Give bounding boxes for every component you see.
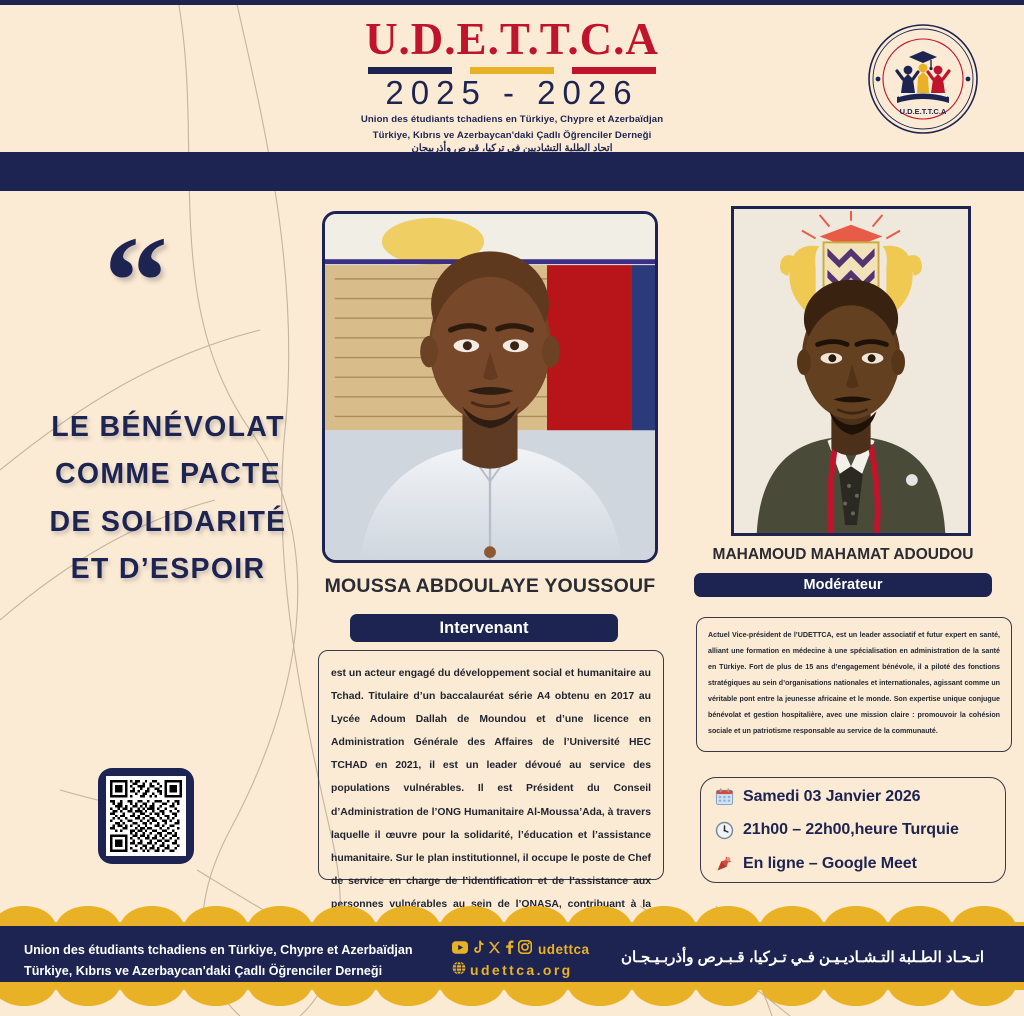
moderator-portrait: UNITÉ: [731, 206, 971, 536]
status-badge-moderateur: Modérateur: [694, 573, 992, 597]
headline-line-1: LE BÉNÉVOLAT: [18, 404, 318, 451]
footer-social-links: udettca udettca.org: [452, 940, 590, 981]
header-divider-band: [0, 152, 1024, 191]
qr-code-image: [106, 776, 186, 856]
x-icon[interactable]: [488, 940, 501, 960]
svg-text:U.D.E.T.T.C.A: U.D.E.T.T.C.A: [900, 107, 947, 116]
clock-icon: [715, 821, 734, 840]
footer: Union des étudiants tchadiens en Türkiye…: [0, 904, 1024, 1016]
scallop-bottom-decoration: [0, 982, 1024, 1008]
headline-line-4: ET D’ESPOIR: [18, 546, 318, 593]
poster-root: U.D.E.T.T.C.A 2025 - 2026 Union des étud…: [0, 0, 1024, 1016]
footer-line-tr: Türkiye, Kıbrıs ve Azerbaycan'daki Çadlı…: [24, 961, 413, 982]
headline-line-2: COMME PACTE: [18, 451, 318, 498]
footer-association-name: Union des étudiants tchadiens en Türkiye…: [24, 940, 413, 982]
event-time-row: 21h00 – 22h00,heure Turquie: [715, 821, 991, 840]
event-location-text: En ligne – Google Meet: [743, 855, 917, 873]
brand-bar-navy: [368, 67, 452, 74]
top-accent-strip: [0, 0, 1024, 5]
tiktok-icon[interactable]: [472, 940, 484, 960]
footer-line-fr: Union des étudiants tchadiens en Türkiye…: [24, 940, 413, 961]
quotation-mark-icon: “: [104, 243, 164, 320]
brand-bar-red: [572, 67, 656, 74]
registration-qr-code[interactable]: [98, 768, 194, 864]
event-location-row: En ligne – Google Meet: [715, 854, 991, 873]
globe-icon: [452, 960, 466, 981]
social-handle[interactable]: udettca: [538, 940, 590, 960]
header: U.D.E.T.T.C.A 2025 - 2026 Union des étud…: [0, 5, 1024, 150]
brand-subtitle-fr: Union des étudiants tchadiens en Türkiye…: [282, 113, 742, 127]
website-row[interactable]: udettca.org: [452, 960, 590, 981]
calendar-icon: [715, 787, 734, 806]
event-date-row: Samedi 03 Janvier 2026: [715, 787, 991, 806]
status-badge-intervenant: Intervenant: [350, 614, 618, 642]
speaker-portrait: [322, 211, 658, 563]
website-url[interactable]: udettca.org: [470, 960, 573, 981]
speaker-bio: est un acteur engagé du développement so…: [318, 650, 664, 880]
moderator-name: MAHAMOUD MAHAMAT ADOUDOU: [694, 546, 992, 564]
social-icon-row: udettca: [452, 940, 590, 960]
brand-color-bars: [282, 67, 742, 74]
event-time-text: 21h00 – 22h00,heure Turquie: [743, 821, 959, 839]
speaker-bio-text: est un acteur engagé du développement so…: [331, 662, 651, 939]
facebook-icon[interactable]: [505, 940, 514, 960]
brand-subtitle-tr: Türkiye, Kıbrıs ve Azerbaycan'daki Çadlı…: [282, 129, 742, 143]
event-details: Samedi 03 Janvier 2026 21h00 – 22h00,heu…: [700, 777, 1006, 883]
pin-icon: [715, 854, 734, 873]
instagram-icon[interactable]: [518, 940, 532, 960]
event-date-text: Samedi 03 Janvier 2026: [743, 788, 920, 806]
udettca-logo-icon: U.D.E.T.T.C.A: [867, 23, 979, 135]
page-title: LE BÉNÉVOLAT COMME PACTE DE SOLIDARITÉ E…: [18, 404, 318, 593]
headline-line-3: DE SOLIDARITÉ: [18, 499, 318, 546]
moderator-bio-text: Actuel Vice-président de l’UDETTCA, est …: [708, 628, 1000, 740]
moderator-bio: Actuel Vice-président de l’UDETTCA, est …: [696, 617, 1012, 752]
brand-bar-gold: [470, 67, 554, 74]
brand-block: U.D.E.T.T.C.A 2025 - 2026 Union des étud…: [282, 17, 742, 156]
youtube-icon[interactable]: [452, 940, 468, 960]
brand-years: 2025 - 2026: [282, 76, 742, 111]
footer-arabic-name: اتـحـاد الطـلبة التـشـاديـيـن فـي تـركيا…: [621, 948, 984, 966]
speaker-name: MOUSSA ABDOULAYE YOUSSOUF: [322, 575, 658, 598]
brand-title: U.D.E.T.T.C.A: [282, 17, 742, 62]
